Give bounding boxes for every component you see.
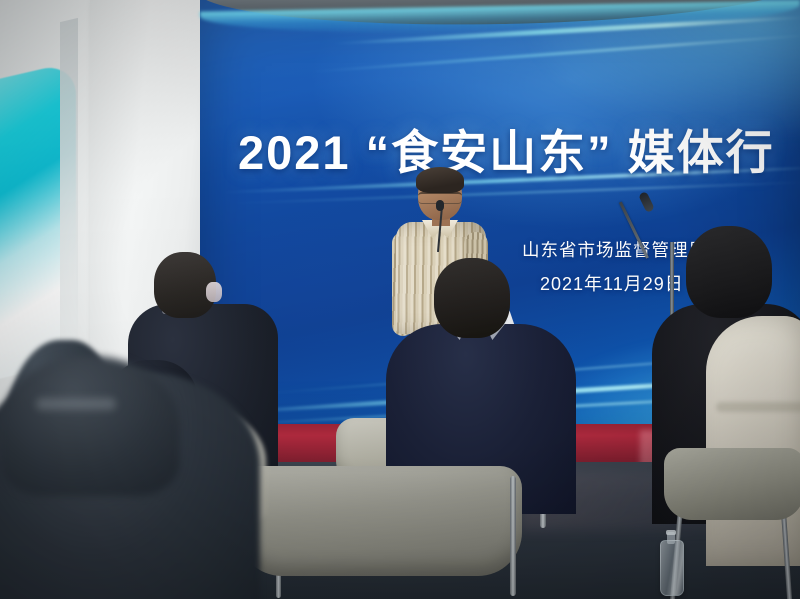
backdrop-headline: 2021 “食安山东” 媒体行 — [238, 114, 775, 183]
photo-scene: 2021 “食安山东” 媒体行 山东省市场监督管理局 2021年11月29日 — [0, 0, 800, 599]
face-mask-icon — [206, 282, 222, 302]
microphone-icon — [436, 200, 444, 211]
bottle-cap — [666, 530, 676, 535]
plastic-water-bottle — [660, 530, 682, 594]
chair-frame — [510, 476, 516, 596]
audience-head — [686, 226, 772, 318]
speaker-hair — [416, 167, 464, 193]
bottle-body — [660, 540, 684, 596]
audience-head — [434, 258, 510, 338]
chair-leg — [781, 510, 792, 599]
chair-right — [664, 448, 800, 599]
foreground-highlight — [36, 398, 116, 410]
chair-back — [664, 448, 800, 520]
foreground-figure-head — [0, 356, 180, 496]
chair-back — [238, 466, 522, 576]
chair-center-near — [238, 466, 524, 599]
panel-edge — [60, 18, 78, 352]
jacket-fold — [716, 402, 800, 412]
